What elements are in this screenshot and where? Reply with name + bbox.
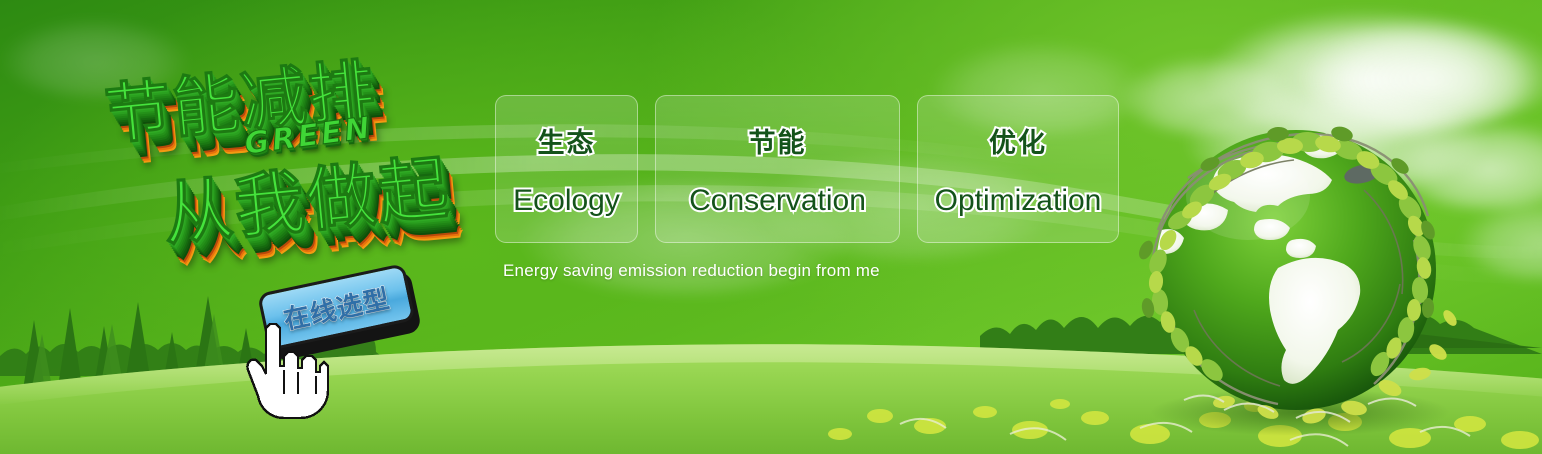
green-leaf-globe-icon	[1128, 112, 1468, 442]
feature-card-ecology[interactable]: 生态 Ecology	[495, 95, 638, 243]
hero-title: 节能减排 GREEN 从我做起	[86, 19, 507, 291]
feature-card-cn-label: 节能	[749, 121, 807, 160]
feature-card-en-label: Optimization	[935, 184, 1102, 218]
feature-card-cn-label: 生态	[538, 121, 596, 160]
feature-card-en-label: Conservation	[689, 184, 866, 218]
feature-card-cn-label: 优化	[989, 121, 1047, 160]
green-energy-banner: 节能减排 GREEN 从我做起 在线选型 生态 Ecology 节能 Conse…	[0, 0, 1542, 454]
feature-card-conservation[interactable]: 节能 Conservation	[655, 95, 900, 243]
feature-card-optimization[interactable]: 优化 Optimization	[917, 95, 1119, 243]
feature-card-en-label: Ecology	[513, 184, 620, 218]
cloud-decoration	[1460, 200, 1542, 280]
hero-title-line2: 从我做起	[158, 132, 454, 260]
banner-tagline: Energy saving emission reduction begin f…	[503, 261, 880, 281]
feature-cards: 生态 Ecology 节能 Conservation 优化 Optimizati…	[495, 95, 1119, 243]
hand-pointer-icon	[240, 318, 332, 422]
